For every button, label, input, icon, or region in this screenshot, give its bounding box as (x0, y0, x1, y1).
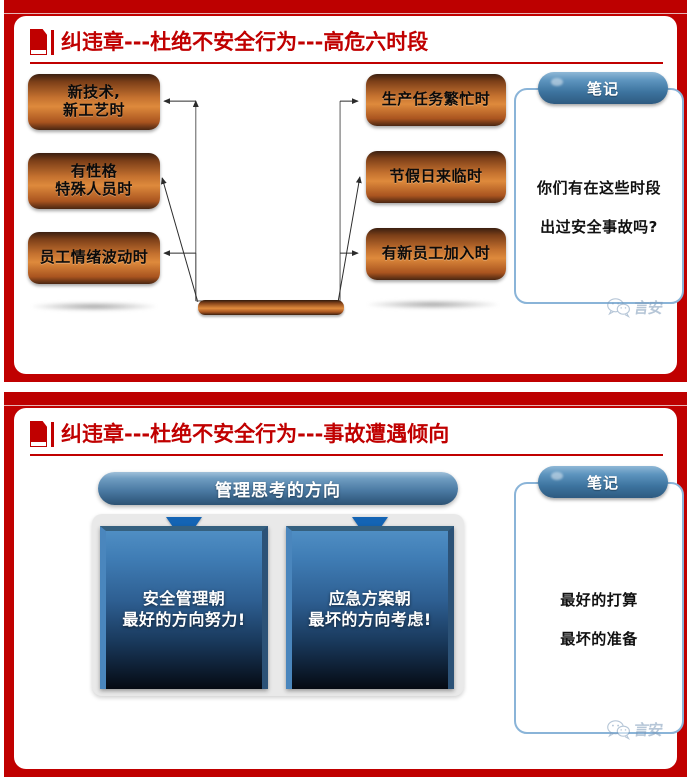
title-underline (30, 454, 663, 456)
watermark-text: 言安 (633, 719, 664, 740)
slide-1: 纠违章---杜绝不安全行为---高危六时段 (4, 0, 687, 382)
factor-box-employee-mood: 员工情绪波动时 (28, 232, 160, 284)
factor-box-holiday: 节假日来临时 (366, 151, 506, 203)
title-divider (51, 30, 54, 55)
notes-body: 最好的打算 最坏的准备 (524, 518, 674, 720)
notes-line: 最坏的准备 (560, 628, 638, 649)
notes-line: 出过安全事故吗? (540, 216, 658, 237)
notes-header-pill: 笔记 (538, 466, 668, 498)
notes-line: 你们有在这些时段 (537, 177, 661, 198)
slide-2-title-row: 纠违章---杜绝不安全行为---事故遭遇倾向 (30, 416, 663, 452)
management-direction-banner: 管理思考的方向 (98, 472, 458, 505)
factor-box-special-personality: 有性格 特殊人员时 (28, 153, 160, 209)
left-group-shadow (32, 302, 156, 311)
watermark-text: 言安 (633, 297, 664, 318)
page-title: 纠违章---杜绝不安全行为---事故遭遇倾向 (61, 424, 449, 445)
red-page-flag-icon (30, 29, 47, 55)
notes-body: 你们有在这些时段 出过安全事故吗? (524, 124, 674, 290)
factor-box-new-technology: 新技术, 新工艺时 (28, 74, 160, 130)
slide-1-body: 新技术, 新工艺时 有性格 特殊人员时 员工情绪波动时 生产任务繁忙时 节假日来… (14, 68, 677, 374)
direction-box-safety-management: 安全管理朝 最好的方向努力! (100, 526, 268, 689)
direction-box-emergency-plan: 应急方案朝 最坏的方向考虑! (286, 526, 454, 689)
slide-2-card: 纠违章---杜绝不安全行为---事故遭遇倾向 管理思考的方向 安全管理朝 最好的… (14, 408, 677, 769)
title-divider (51, 422, 54, 447)
slide-2: 纠违章---杜绝不安全行为---事故遭遇倾向 管理思考的方向 安全管理朝 最好的… (4, 392, 687, 777)
slide-2-top-band (4, 392, 687, 406)
wechat-watermark: 言安 (606, 296, 662, 318)
slide-1-card: 纠违章---杜绝不安全行为---高危六时段 (14, 16, 677, 374)
notes-panel-1: 笔记 你们有在这些时段 出过安全事故吗? (514, 88, 684, 304)
notes-header-pill: 笔记 (538, 72, 668, 104)
funnel-base-bar (198, 300, 344, 315)
factor-box-busy-production: 生产任务繁忙时 (366, 74, 506, 126)
notes-line: 最好的打算 (560, 589, 638, 610)
wechat-icon (606, 296, 632, 318)
factor-box-new-employee: 有新员工加入时 (366, 228, 506, 280)
notes-panel-2: 笔记 最好的打算 最坏的准备 (514, 482, 684, 734)
wechat-icon (606, 718, 632, 740)
right-group-shadow (368, 300, 498, 309)
title-underline (30, 62, 663, 64)
slide-1-top-band (4, 0, 687, 14)
red-page-flag-icon (30, 421, 47, 447)
slide-deck-image: 纠违章---杜绝不安全行为---高危六时段 (0, 0, 691, 777)
slide-1-title-row: 纠违章---杜绝不安全行为---高危六时段 (30, 24, 663, 60)
wechat-watermark: 言安 (606, 718, 662, 740)
page-title: 纠违章---杜绝不安全行为---高危六时段 (61, 32, 428, 53)
slide-2-body: 管理思考的方向 安全管理朝 最好的方向努力! 应急方案朝 最坏的方向考虑! 笔记… (14, 460, 677, 769)
